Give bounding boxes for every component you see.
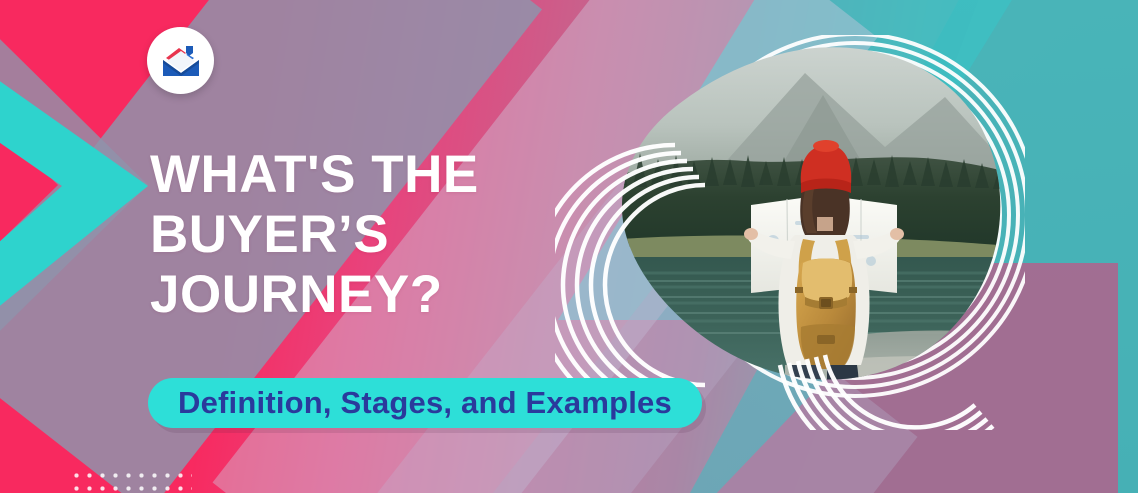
hero-photo-artwork: [555, 35, 1025, 430]
subtitle-badge: Definition, Stages, and Examples: [148, 378, 702, 428]
brand-logo[interactable]: [147, 27, 214, 94]
open-envelope-with-letter-icon: [160, 44, 202, 78]
subtitle-badge-label: Definition, Stages, and Examples: [178, 385, 672, 421]
page-title: WHAT'S THE BUYER’S JOURNEY?: [150, 145, 580, 325]
dot-grid-decoration: [70, 467, 192, 493]
blog-hero-banner: WHAT'S THE BUYER’S JOURNEY? Definition, …: [0, 0, 1138, 493]
